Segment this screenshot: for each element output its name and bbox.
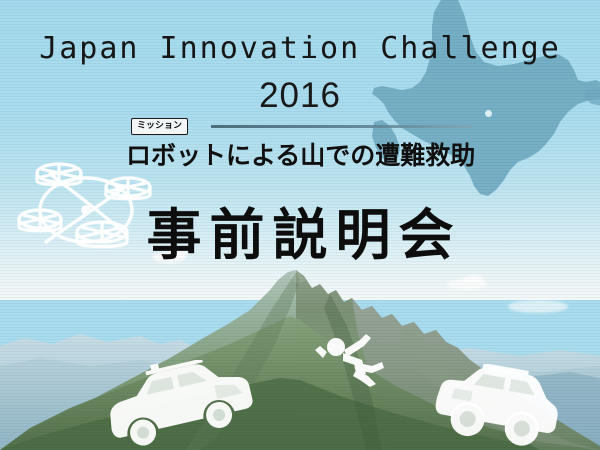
mission-row: ミッション bbox=[131, 118, 481, 135]
mission-text: ロボットによる山での遭難救助 bbox=[126, 136, 475, 172]
drone-icon bbox=[16, 160, 162, 272]
page-title: Japan Innovation Challenge bbox=[0, 31, 600, 66]
poster-canvas: Japan Innovation Challenge 2016 ミッション ロボ… bbox=[0, 0, 600, 450]
offroad-buggy-icon bbox=[430, 364, 564, 450]
fallen-person-icon bbox=[310, 326, 390, 388]
mission-rule-divider bbox=[211, 125, 472, 128]
suv-wagon-icon bbox=[96, 360, 260, 450]
mission-badge: ミッション bbox=[131, 118, 188, 135]
year-label: 2016 bbox=[0, 76, 600, 116]
